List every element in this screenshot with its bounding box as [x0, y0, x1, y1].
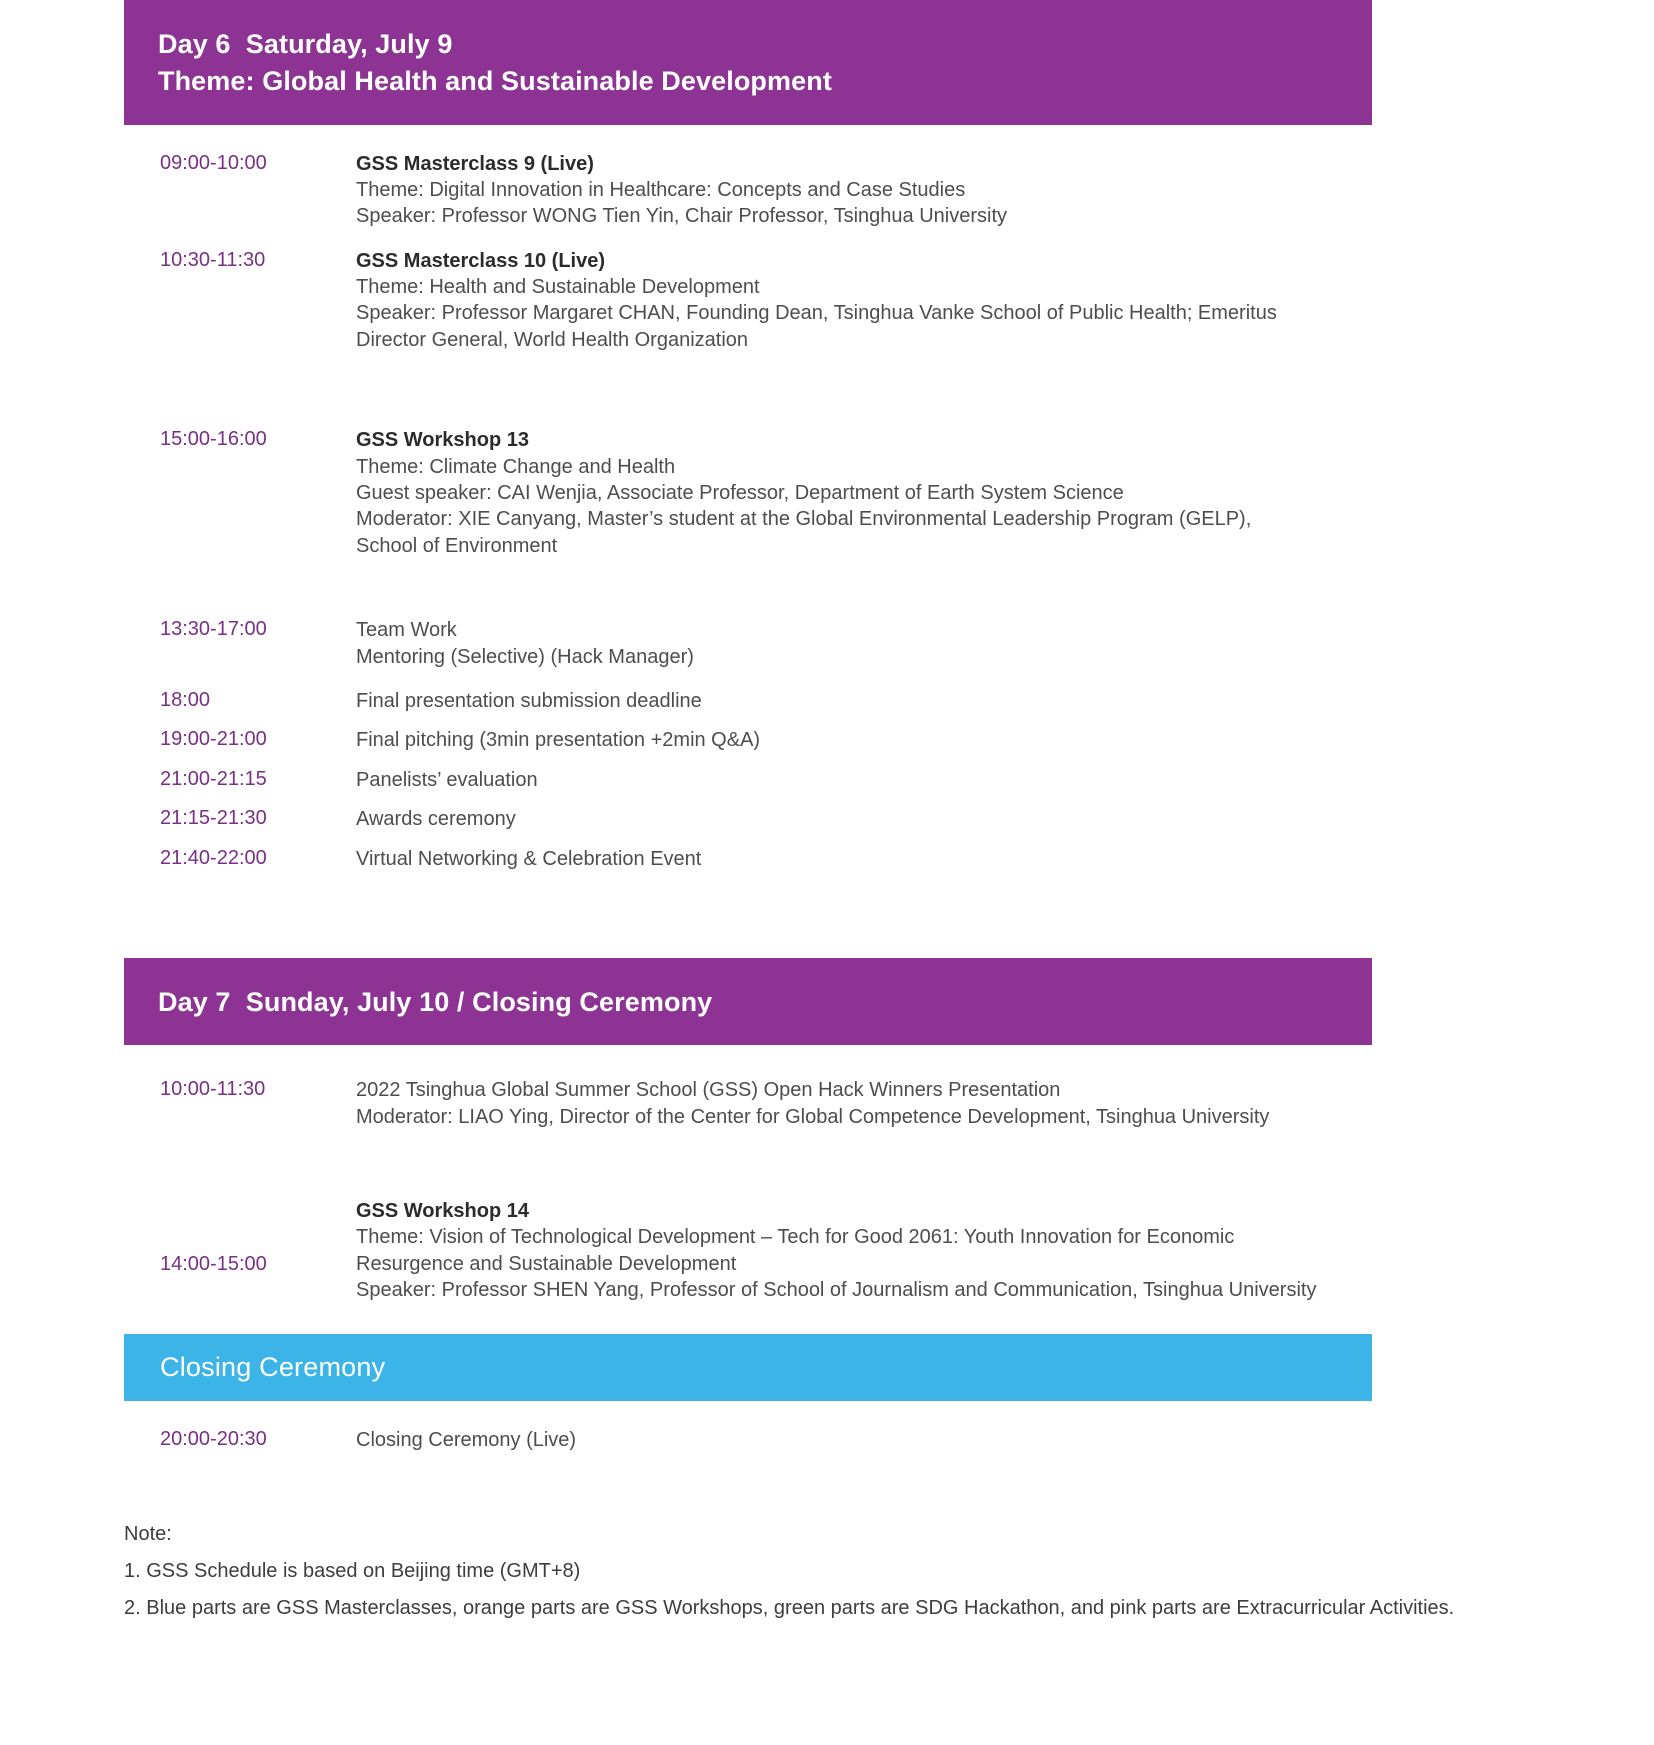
table-row: 21:00-21:15 Panelists’ evaluation: [124, 767, 1372, 793]
row-time: 09:00-10:00: [124, 151, 318, 176]
day7-workshop-rows: 14:00-15:00 GSS Workshop 14 Theme: Visio…: [124, 1162, 1372, 1334]
row-content: Final presentation submission deadline: [318, 688, 1372, 714]
row-content: Final pitching (3min presentation +2min …: [318, 727, 1372, 753]
schedule-sheet: Day 6 Saturday, July 9 Theme: Global Hea…: [124, 0, 1372, 1483]
row-time: 10:00-11:30: [124, 1077, 318, 1102]
row-line: Virtual Networking & Celebration Event: [356, 846, 1348, 872]
day6-header-line1: Day 6 Saturday, July 9: [158, 26, 1338, 63]
day-separator: [124, 916, 1372, 958]
row-line: Director General, World Health Organizat…: [356, 327, 1348, 353]
row-time: 10:30-11:30: [124, 248, 318, 273]
day7-workshop-block: 14:00-15:00 GSS Workshop 14 Theme: Visio…: [124, 1162, 1372, 1334]
row-content: 2022 Tsinghua Global Summer School (GSS)…: [318, 1077, 1372, 1130]
row-line: Moderator: LIAO Ying, Director of the Ce…: [356, 1104, 1348, 1130]
note-heading: Note:: [124, 1516, 1464, 1553]
row-line: Panelists’ evaluation: [356, 767, 1348, 793]
row-title: GSS Workshop 13: [356, 427, 1348, 453]
row-time: 21:15-21:30: [124, 806, 318, 831]
row-line: Closing Ceremony (Live): [356, 1427, 1348, 1453]
table-row: 10:30-11:30 GSS Masterclass 10 (Live) Th…: [124, 248, 1372, 354]
day6-header-line2: Theme: Global Health and Sustainable Dev…: [158, 63, 1338, 100]
row-line: Theme: Health and Sustainable Developmen…: [356, 274, 1348, 300]
row-line: Resurgence and Sustainable Development: [356, 1251, 1348, 1277]
note-item-1: 1. GSS Schedule is based on Beijing time…: [124, 1553, 1464, 1590]
row-content: Team Work Mentoring (Selective) (Hack Ma…: [318, 617, 1372, 670]
row-content: Virtual Networking & Celebration Event: [318, 846, 1372, 872]
row-time: 21:40-22:00: [124, 846, 318, 871]
row-content: Closing Ceremony (Live): [318, 1427, 1372, 1453]
row-content: GSS Masterclass 10 (Live) Theme: Health …: [318, 248, 1372, 354]
row-title: GSS Workshop 14: [356, 1198, 1348, 1224]
row-line: 2022 Tsinghua Global Summer School (GSS)…: [356, 1077, 1348, 1103]
row-content: Awards ceremony: [318, 806, 1372, 832]
row-line: Guest speaker: CAI Wenjia, Associate Pro…: [356, 480, 1348, 506]
row-time: 18:00: [124, 688, 318, 713]
day6-hackathon-block: 13:30-17:00 Team Work Mentoring (Selecti…: [124, 587, 1372, 916]
row-content: GSS Masterclass 9 (Live) Theme: Digital …: [318, 151, 1372, 230]
row-line: Awards ceremony: [356, 806, 1348, 832]
row-content: GSS Workshop 13 Theme: Climate Change an…: [318, 427, 1372, 559]
row-line: Final pitching (3min presentation +2min …: [356, 727, 1348, 753]
day6-hackathon-rows: 13:30-17:00 Team Work Mentoring (Selecti…: [124, 587, 1372, 916]
row-line: Mentoring (Selective) (Hack Manager): [356, 644, 1348, 670]
row-line: Moderator: XIE Canyang, Master’s student…: [356, 506, 1348, 532]
day7-header-line1: Day 7 Sunday, July 10 / Closing Ceremony: [158, 984, 1338, 1021]
day6-masterclass-rows: 09:00-10:00 GSS Masterclass 9 (Live) The…: [124, 125, 1372, 394]
table-row: 20:00-20:30 Closing Ceremony (Live): [124, 1427, 1372, 1453]
table-row: 13:30-17:00 Team Work Mentoring (Selecti…: [124, 617, 1372, 670]
row-time: 21:00-21:15: [124, 767, 318, 792]
row-title: GSS Masterclass 9 (Live): [356, 151, 1348, 177]
day7-header: Day 7 Sunday, July 10 / Closing Ceremony: [124, 958, 1372, 1045]
day6-header: Day 6 Saturday, July 9 Theme: Global Hea…: [124, 0, 1372, 125]
closing-ceremony-rows: 20:00-20:30 Closing Ceremony (Live): [124, 1401, 1372, 1483]
row-time: 15:00-16:00: [124, 427, 318, 452]
row-time: 19:00-21:00: [124, 727, 318, 752]
table-row: 21:40-22:00 Virtual Networking & Celebra…: [124, 846, 1372, 872]
day6-workshop-rows: 15:00-16:00 GSS Workshop 13 Theme: Clima…: [124, 393, 1372, 587]
row-time: 20:00-20:30: [124, 1427, 318, 1452]
row-line: Theme: Vision of Technological Developme…: [356, 1224, 1348, 1250]
table-row: 18:00 Final presentation submission dead…: [124, 688, 1372, 714]
row-content: GSS Workshop 14 Theme: Vision of Technol…: [318, 1198, 1372, 1304]
row-title: GSS Masterclass 10 (Live): [356, 248, 1348, 274]
row-line: School of Environment: [356, 533, 1348, 559]
row-line: Final presentation submission deadline: [356, 688, 1348, 714]
row-line: Speaker: Professor WONG Tien Yin, Chair …: [356, 203, 1348, 229]
table-row: 21:15-21:30 Awards ceremony: [124, 806, 1372, 832]
note-item-2: 2. Blue parts are GSS Masterclasses, ora…: [124, 1590, 1464, 1627]
schedule-page: Day 6 Saturday, July 9 Theme: Global Hea…: [0, 0, 1654, 1745]
day7-hackathon-block: 10:00-11:30 2022 Tsinghua Global Summer …: [124, 1045, 1372, 1162]
note-section: Note: 1. GSS Schedule is based on Beijin…: [124, 1516, 1464, 1627]
day6-masterclass-rows-wrap: 09:00-10:00 GSS Masterclass 9 (Live) The…: [124, 125, 1372, 394]
day6-workshop-block: 15:00-16:00 GSS Workshop 13 Theme: Clima…: [124, 393, 1372, 587]
table-row: 19:00-21:00 Final pitching (3min present…: [124, 727, 1372, 753]
closing-ceremony-banner: Closing Ceremony: [124, 1334, 1372, 1401]
table-row: 09:00-10:00 GSS Masterclass 9 (Live) The…: [124, 151, 1372, 230]
row-line: Team Work: [356, 617, 1348, 643]
row-time: 14:00-15:00: [124, 1198, 318, 1277]
row-line: Speaker: Professor Margaret CHAN, Foundi…: [356, 300, 1348, 326]
row-line: Speaker: Professor SHEN Yang, Professor …: [356, 1277, 1348, 1303]
table-row: 14:00-15:00 GSS Workshop 14 Theme: Visio…: [124, 1198, 1372, 1304]
row-content: Panelists’ evaluation: [318, 767, 1372, 793]
table-row: 15:00-16:00 GSS Workshop 13 Theme: Clima…: [124, 427, 1372, 559]
row-line: Theme: Digital Innovation in Healthcare:…: [356, 177, 1348, 203]
day7-hackathon-rows: 10:00-11:30 2022 Tsinghua Global Summer …: [124, 1045, 1372, 1162]
row-line: Theme: Climate Change and Health: [356, 454, 1348, 480]
closing-ceremony-block: 20:00-20:30 Closing Ceremony (Live): [124, 1401, 1372, 1483]
row-time: 13:30-17:00: [124, 617, 318, 642]
table-row: 10:00-11:30 2022 Tsinghua Global Summer …: [124, 1077, 1372, 1130]
